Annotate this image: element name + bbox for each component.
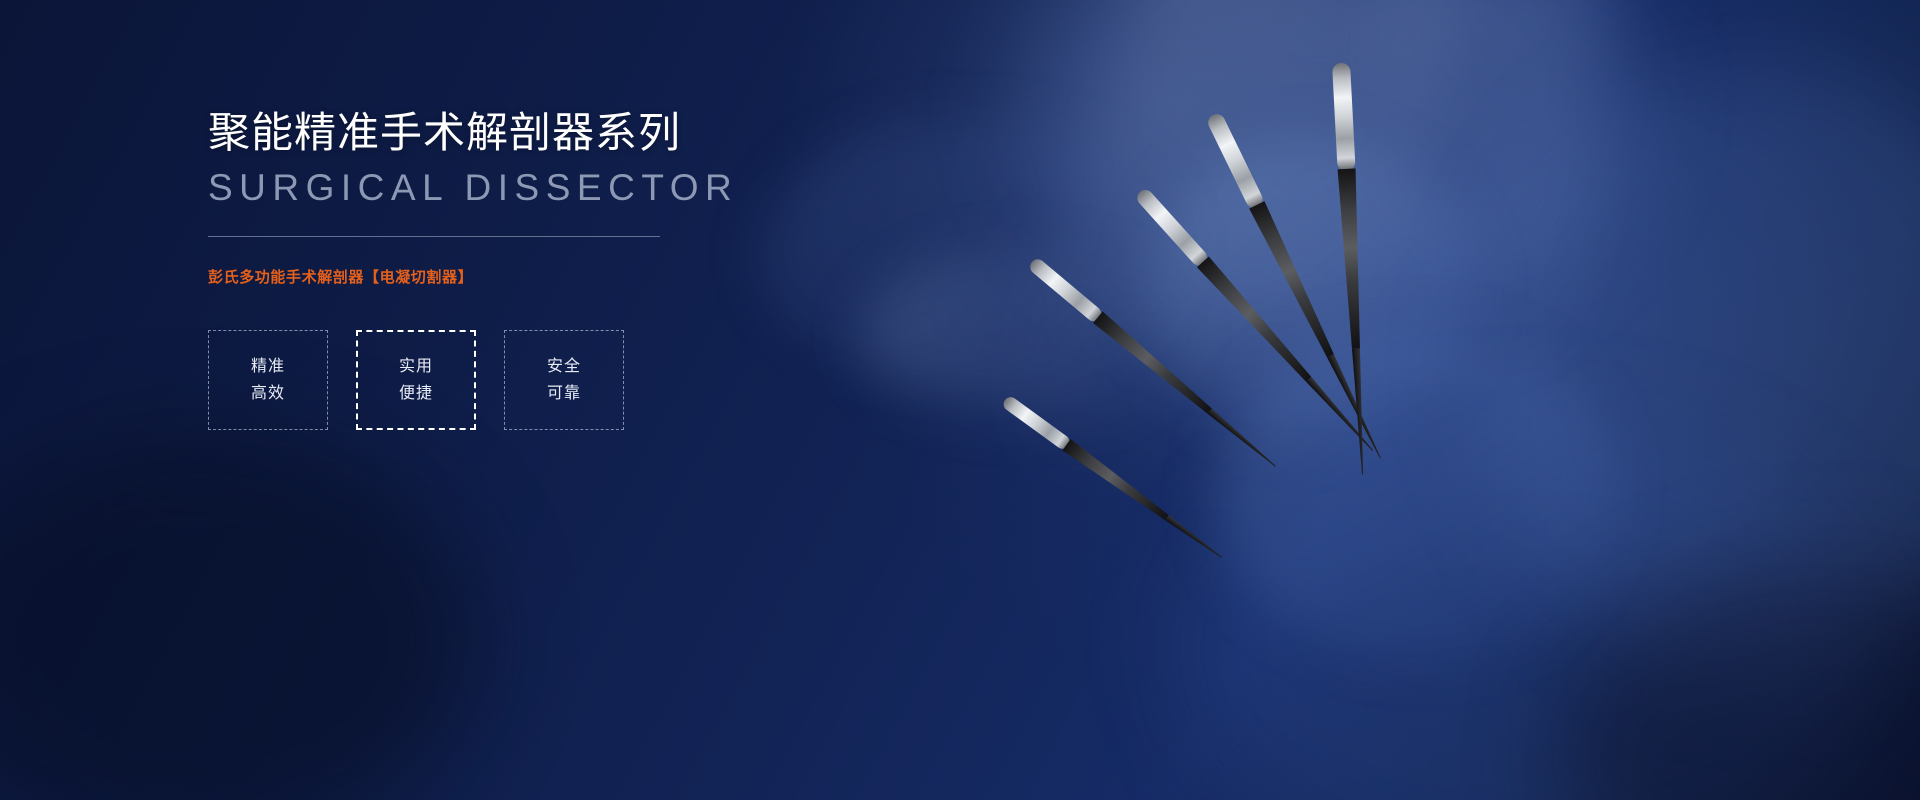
page-title: 聚能精准手术解剖器系列	[208, 108, 848, 158]
feature-box-precision[interactable]: 精准 高效	[208, 330, 328, 430]
banner-content: 聚能精准手术解剖器系列 SURGICAL DISSECTOR 彭氏多功能手术解剖…	[208, 108, 848, 430]
product-banner: 聚能精准手术解剖器系列 SURGICAL DISSECTOR 彭氏多功能手术解剖…	[0, 0, 1920, 800]
feature-box-safety[interactable]: 安全 可靠	[504, 330, 624, 430]
feature-line-2: 便捷	[399, 380, 433, 408]
surgical-dissector-3	[1134, 187, 1379, 456]
feature-line-1: 安全	[547, 353, 581, 381]
page-subtitle: SURGICAL DISSECTOR	[208, 168, 848, 209]
feature-line-2: 可靠	[547, 380, 581, 408]
feature-list: 精准 高效 实用 便捷 安全 可靠	[208, 330, 848, 430]
surgical-dissector-1	[1001, 394, 1226, 563]
feature-line-1: 精准	[251, 353, 285, 381]
product-tagline: 彭氏多功能手术解剖器【电凝切割器】	[208, 266, 848, 287]
feature-line-1: 实用	[399, 353, 433, 381]
title-divider	[208, 236, 660, 237]
feature-box-practical[interactable]: 实用 便捷	[356, 330, 476, 430]
feature-line-2: 高效	[251, 380, 285, 408]
